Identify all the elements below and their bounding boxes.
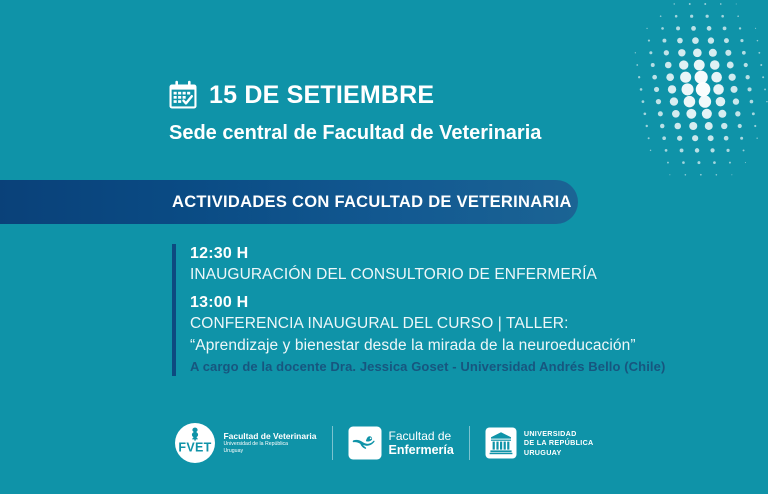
poster-canvas: 15 DE SETIEMBRE Sede central de Facultad… <box>0 0 768 494</box>
logo-udelar-line2: DE LA REPÚBLICA <box>524 438 594 448</box>
logo-udelar-line1: UNIVERSIDAD <box>524 429 594 439</box>
schedule-item-title: CONFERENCIA INAUGURAL DEL CURSO | TALLER… <box>190 313 692 335</box>
logo-divider <box>332 426 333 460</box>
logo-enfermeria: Facultad de Enfermería <box>348 420 454 466</box>
schedule-item: 13:00 H CONFERENCIA INAUGURAL DEL CURSO … <box>190 293 692 376</box>
schedule-item-time: 12:30 H <box>190 244 692 264</box>
schedule-item-title: INAUGURACIÓN DEL CONSULTORIO DE ENFERMER… <box>190 264 692 286</box>
logo-fvet-line2: Universidad de la República <box>223 441 316 448</box>
svg-text:FVET: FVET <box>179 441 212 455</box>
logo-fvet-line3: Uruguay <box>223 448 316 455</box>
logo-enfermeria-line1: Facultad de <box>389 429 454 443</box>
calendar-icon <box>168 80 198 110</box>
schedule-spacer <box>190 286 692 293</box>
logo-divider <box>469 426 470 460</box>
date-row: 15 DE SETIEMBRE <box>168 78 688 112</box>
section-banner-label: ACTIVIDADES CON FACULTAD DE VETERINARIA <box>172 193 572 212</box>
section-banner: ACTIVIDADES CON FACULTAD DE VETERINARIA <box>0 180 578 224</box>
event-header: 15 DE SETIEMBRE Sede central de Facultad… <box>168 78 688 143</box>
logo-udelar-text: UNIVERSIDAD DE LA REPÚBLICA URUGUAY <box>524 429 594 458</box>
schedule-item: 12:30 H INAUGURACIÓN DEL CONSULTORIO DE … <box>190 244 692 286</box>
schedule-item-note: A cargo de la docente Dra. Jessica Goset… <box>190 357 692 376</box>
schedule-list: 12:30 H INAUGURACIÓN DEL CONSULTORIO DE … <box>172 244 692 376</box>
schedule-item-time: 13:00 H <box>190 293 692 313</box>
event-venue: Sede central de Facultad de Veterinaria <box>169 123 688 143</box>
enfermeria-bird-icon <box>348 426 382 460</box>
logo-fvet-line1: Facultad de Veterinaria <box>223 431 316 441</box>
fvet-caduceus-icon: FVET <box>174 422 216 464</box>
logo-enfermeria-line2: Enfermería <box>389 443 454 458</box>
schedule-item-subtitle: “Aprendizaje y bienestar desde la mirada… <box>190 335 692 357</box>
logo-udelar: UNIVERSIDAD DE LA REPÚBLICA URUGUAY <box>485 420 594 466</box>
event-date: 15 DE SETIEMBRE <box>209 83 434 108</box>
footer-logos: FVET Facultad de Veterinaria Universidad… <box>0 414 768 472</box>
logo-enfermeria-text: Facultad de Enfermería <box>389 429 454 458</box>
logo-udelar-line3: URUGUAY <box>524 448 594 458</box>
logo-fvet: FVET Facultad de Veterinaria Universidad… <box>174 420 316 466</box>
logo-fvet-text: Facultad de Veterinaria Universidad de l… <box>223 431 316 455</box>
udelar-shield-icon <box>485 427 517 459</box>
